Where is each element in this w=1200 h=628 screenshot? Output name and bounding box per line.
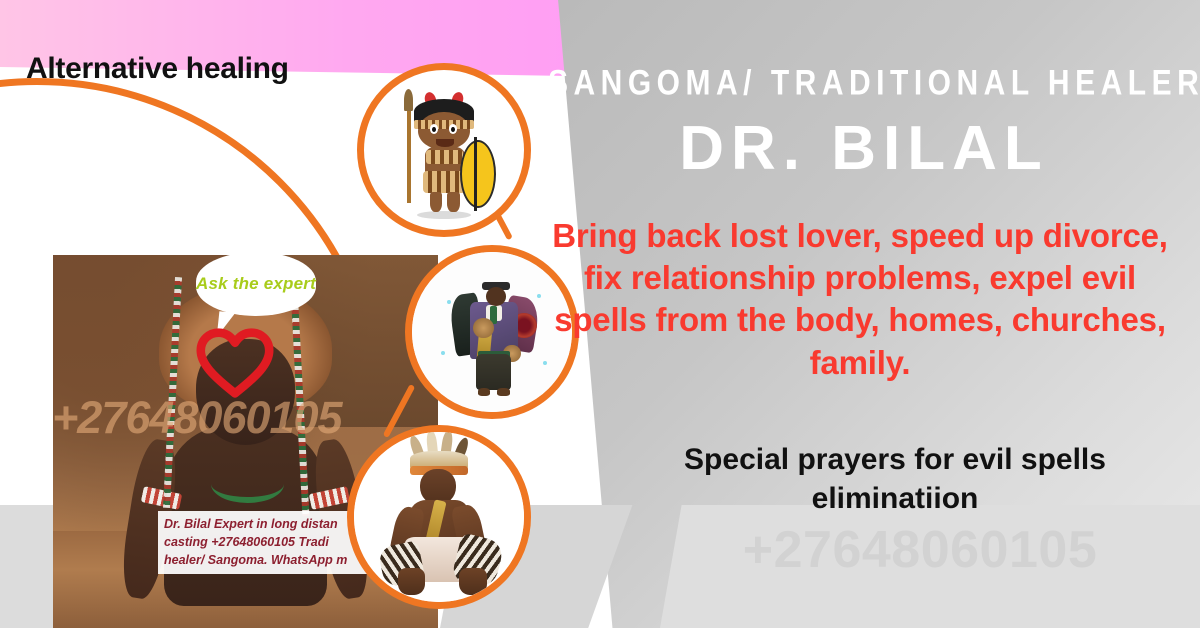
warrior-headband — [414, 120, 475, 130]
warrior-eye-right — [449, 124, 457, 134]
zulu-warrior-illustration — [364, 70, 524, 230]
kicker-text: SANGOMA/ TRADITIONAL HEALER — [548, 64, 1180, 104]
warrior-spear-head — [404, 89, 413, 111]
circle-kneeling-sangoma — [347, 425, 531, 609]
cloak-pants — [476, 354, 511, 389]
photo-caption-line-3: healer/ Sangoma. WhatsApp m — [164, 551, 381, 569]
heart-icon — [196, 328, 274, 398]
ask-the-expert-bubble: Ask the expert — [196, 252, 316, 316]
warrior-leg-left — [430, 192, 443, 213]
poster-canvas: +27648060105 Ask the expert Dr. Bilal Ex… — [0, 0, 1200, 628]
cloak-drum-left — [473, 318, 494, 339]
kneel-leg-left — [398, 568, 425, 595]
warrior-shield — [460, 140, 496, 208]
cloak-shoe-left — [478, 388, 491, 396]
warrior-shield-spine — [474, 137, 477, 211]
kneel-leg-right — [459, 568, 486, 595]
phone-number-ghost: +27648060105 — [640, 520, 1200, 580]
warrior-chest-band — [426, 150, 463, 164]
warrior-mouth — [436, 139, 454, 147]
circle-zulu-warrior-cartoon — [357, 63, 531, 237]
healer-name: DR. BILAL — [548, 113, 1180, 184]
warrior-leg-right — [447, 192, 460, 213]
cloak-sparkle-3 — [441, 351, 445, 355]
page-title: Alternative healing — [26, 52, 289, 86]
services-text: Bring back lost lover, speed up divorce,… — [536, 215, 1184, 384]
ask-the-expert-label: Ask the expert — [196, 252, 316, 316]
photo-figure-necklace — [211, 464, 284, 502]
kneeling-sangoma-illustration — [354, 432, 524, 602]
warrior-shadow — [417, 211, 471, 219]
cloak-shoe-right — [497, 388, 510, 396]
warrior-eye-left — [430, 124, 438, 134]
special-prayers-text: Special prayers for evil spells eliminat… — [600, 440, 1190, 518]
